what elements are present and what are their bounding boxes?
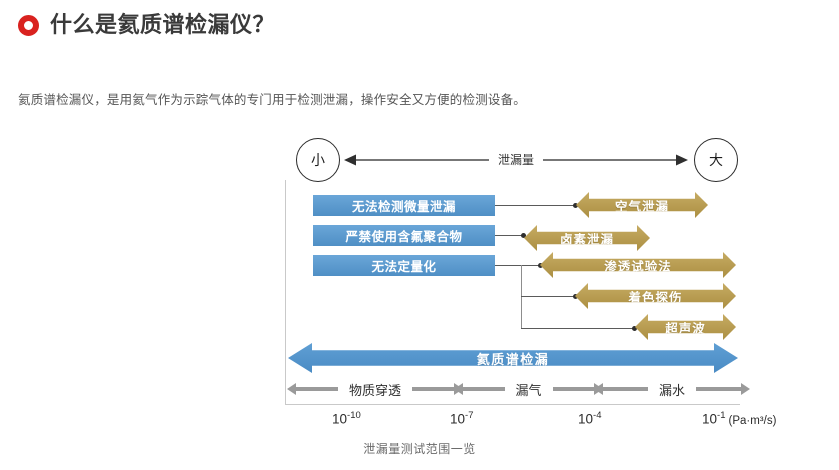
range-arrow-left-3 (602, 387, 648, 391)
connector-line-1 (495, 205, 577, 206)
axis-tick-4-base: 10 (702, 412, 717, 427)
method-arrow-helium-leak-detection-label: 氦质谱检漏 (477, 349, 550, 368)
limitation-box-3-label: 无法定量化 (371, 256, 436, 275)
axis-tick-4-exponent: -1 (717, 410, 725, 421)
leak-rate-axis: 泄漏量 (344, 149, 688, 171)
page-title: 什么是氦质谱检漏仪？ (50, 14, 275, 36)
range-arrow-right-3 (696, 387, 742, 391)
page-header: 什么是氦质谱检漏仪？ (18, 14, 275, 36)
range-arrow-left-1 (295, 387, 338, 391)
limitation-box-3: 无法定量化 (313, 255, 495, 276)
range-arrow-right-2 (553, 387, 596, 391)
intro-paragraph: 氦质谱检漏仪，是用氦气作为示踪气体的专门用于检测泄漏，操作安全又方便的检测设备。 (18, 89, 526, 108)
scale-circle-large: 大 (694, 138, 738, 182)
range-row: 物质穿透 漏气 漏水 (286, 378, 740, 400)
axis-tick-3-base: 10 (578, 412, 593, 427)
range-segment-water-leak: 漏水 (602, 378, 742, 400)
scale-circle-large-label: 大 (709, 150, 723, 170)
range-segment-gas-leak: 漏气 (462, 378, 595, 400)
axis-tick-2: 10-7 (450, 410, 473, 427)
axis-tick-1-exponent: -10 (347, 410, 361, 421)
leak-rate-axis-label: 泄漏量 (489, 149, 543, 171)
scale-circle-small: 小 (296, 138, 340, 182)
axis-tick-3-exponent: -4 (593, 410, 601, 421)
range-segment-gas-leak-label: 漏气 (505, 380, 553, 399)
connector-branch-vertical (521, 265, 522, 329)
limitation-box-1: 无法检测微量泄漏 (313, 195, 495, 216)
limitation-box-2-label: 严禁使用含氟聚合物 (345, 226, 462, 245)
scale-circle-small-label: 小 (311, 150, 325, 170)
connector-line-5 (521, 328, 636, 329)
ring-bullet-icon (18, 15, 39, 36)
axis-tick-3: 10-4 (578, 410, 601, 427)
axis-tick-2-base: 10 (450, 412, 465, 427)
limitation-box-2: 严禁使用含氟聚合物 (313, 225, 495, 246)
range-arrow-left-2 (462, 387, 505, 391)
connector-line-4 (521, 296, 576, 297)
axis-tick-1-base: 10 (332, 412, 347, 427)
axis-tick-2-exponent: -7 (465, 410, 473, 421)
limitation-box-1-label: 无法检测微量泄漏 (352, 196, 456, 215)
range-segment-water-leak-label: 漏水 (648, 380, 696, 399)
leak-rate-diagram: 小 大 泄漏量 无法检测微量泄漏 严禁使用含氟聚合物 无法定量化 空气泄漏 卤素… (0, 125, 839, 470)
axis-unit-label: (Pa·m³/s) (728, 415, 776, 427)
range-segment-permeation: 物质穿透 (295, 378, 455, 400)
range-segment-permeation-label: 物质穿透 (338, 380, 412, 399)
connector-line-3 (495, 265, 542, 266)
diagram-caption: 泄漏量测试范围一览 (0, 440, 839, 457)
axis-tick-1: 10-10 (332, 410, 361, 427)
axis-tick-4: 10-1(Pa·m³/s) (702, 410, 776, 427)
range-arrow-right-1 (412, 387, 455, 391)
